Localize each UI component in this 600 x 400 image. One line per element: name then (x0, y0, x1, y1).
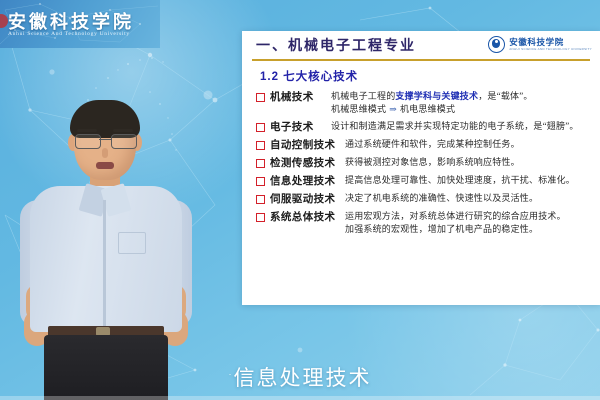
desc-line2-a: 机械思维模式 (331, 104, 386, 114)
list-item-description: 设计和制造满足需求并实现特定功能的电子系统，是“翅膀”。 (331, 120, 579, 133)
university-emblem-icon (488, 36, 505, 53)
banner-name-en: Anhui Science And Technology University (8, 31, 158, 37)
presenter-shirt-pocket (118, 232, 146, 254)
video-frame: 安徽科技学院 Anhui Science And Technology Univ… (0, 0, 600, 400)
desc-line2-b: 机电思维模式 (400, 104, 455, 114)
list-item: 伺服驱动技术 决定了机电系统的准确性、快速性以及灵活性。 (256, 192, 594, 206)
list-item: 检测传感技术 获得被测控对象信息，影响系统响应特性。 (256, 156, 594, 170)
bullet-square-icon (256, 141, 265, 150)
list-item-description: 提高信息处理可靠性、加快处理速度，抗干扰、标准化。 (345, 174, 575, 187)
list-item: 系统总体技术 运用宏观方法，对系统总体进行研究的综合应用技术。 加强系统的宏观性… (256, 210, 594, 236)
list-item-term: 电子技术 (270, 120, 324, 134)
list-item-term: 系统总体技术 (270, 210, 338, 224)
desc-text-highlight: 支撑学科与关键技术 (395, 91, 478, 101)
presenter-mouth (96, 162, 114, 169)
bullet-square-icon (256, 177, 265, 186)
presenter-nose (102, 148, 108, 158)
desc-text-pre: 机械电子工程的 (331, 91, 395, 101)
list-item-description: 运用宏观方法，对系统总体进行研究的综合应用技术。 加强系统的宏观性，增加了机电产… (345, 210, 566, 236)
list-item: 信息处理技术 提高信息处理可靠性、加快处理速度，抗干扰、标准化。 (256, 174, 594, 188)
list-item-term: 自动控制技术 (270, 138, 338, 152)
technology-list: 机械技术 机械电子工程的支撑学科与关键技术，是“载体”。 机械思维模式⇒机电思维… (242, 90, 600, 236)
list-item-description: 决定了机电系统的准确性、快速性以及灵活性。 (345, 192, 538, 205)
bullet-square-icon (256, 213, 265, 222)
slide-subtitle: 1.2 七大核心技术 (260, 68, 600, 84)
bullet-square-icon (256, 195, 265, 204)
logo-name-en: ANHUI SCIENCE AND TECHNOLOGY UNIVERSITY (509, 48, 592, 51)
presenter-shirt-placket (103, 200, 106, 328)
slide-university-logo: 安徽科技学院 ANHUI SCIENCE AND TECHNOLOGY UNIV… (488, 36, 592, 53)
caption-lead-dot: · (229, 369, 234, 379)
presenter-glasses (74, 134, 136, 147)
list-item-term: 伺服驱动技术 (270, 192, 338, 206)
desc-line1: 运用宏观方法，对系统总体进行研究的综合应用技术。 (345, 211, 566, 221)
banner-name-cn: 安徽科技学院 (8, 8, 152, 30)
list-item-description: 机械电子工程的支撑学科与关键技术，是“载体”。 机械思维模式⇒机电思维模式 (331, 90, 533, 116)
bullet-square-icon (256, 93, 265, 102)
logo-name-cn: 安徽科技学院 (509, 38, 592, 47)
video-caption: ·信息处理技术 (0, 362, 600, 392)
desc-text-post: ，是“载体”。 (478, 91, 532, 101)
presenter-eyebrow-right (113, 129, 133, 132)
list-item-description: 通过系统硬件和软件，完成某种控制任务。 (345, 138, 520, 151)
list-item-description: 获得被测控对象信息，影响系统响应特性。 (345, 156, 520, 169)
presenter-hair (70, 100, 140, 138)
caption-text: 信息处理技术 (234, 367, 372, 390)
list-item-term: 信息处理技术 (270, 174, 338, 188)
bullet-square-icon (256, 159, 265, 168)
bullet-square-icon (256, 123, 265, 132)
bottom-bar (0, 396, 600, 400)
presenter-figure (22, 104, 212, 400)
slide-title: 一、机械电子工程专业 (256, 35, 416, 55)
list-item-term: 机械技术 (270, 90, 324, 104)
double-arrow-icon: ⇒ (386, 104, 400, 114)
title-underline (252, 59, 590, 61)
list-item: 机械技术 机械电子工程的支撑学科与关键技术，是“载体”。 机械思维模式⇒机电思维… (256, 90, 594, 116)
slide-header: 一、机械电子工程专业 安徽科技学院 ANHUI SCIENCE AND TECH… (242, 31, 600, 59)
presenter-eyebrow-left (77, 129, 97, 132)
desc-line2: 加强系统的宏观性，增加了机电产品的稳定性。 (345, 224, 538, 234)
university-banner: 安徽科技学院 Anhui Science And Technology Univ… (0, 0, 160, 48)
list-item-term: 检测传感技术 (270, 156, 338, 170)
presentation-slide: 一、机械电子工程专业 安徽科技学院 ANHUI SCIENCE AND TECH… (242, 31, 600, 305)
list-item: 自动控制技术 通过系统硬件和软件，完成某种控制任务。 (256, 138, 594, 152)
list-item: 电子技术 设计和制造满足需求并实现特定功能的电子系统，是“翅膀”。 (256, 120, 594, 134)
